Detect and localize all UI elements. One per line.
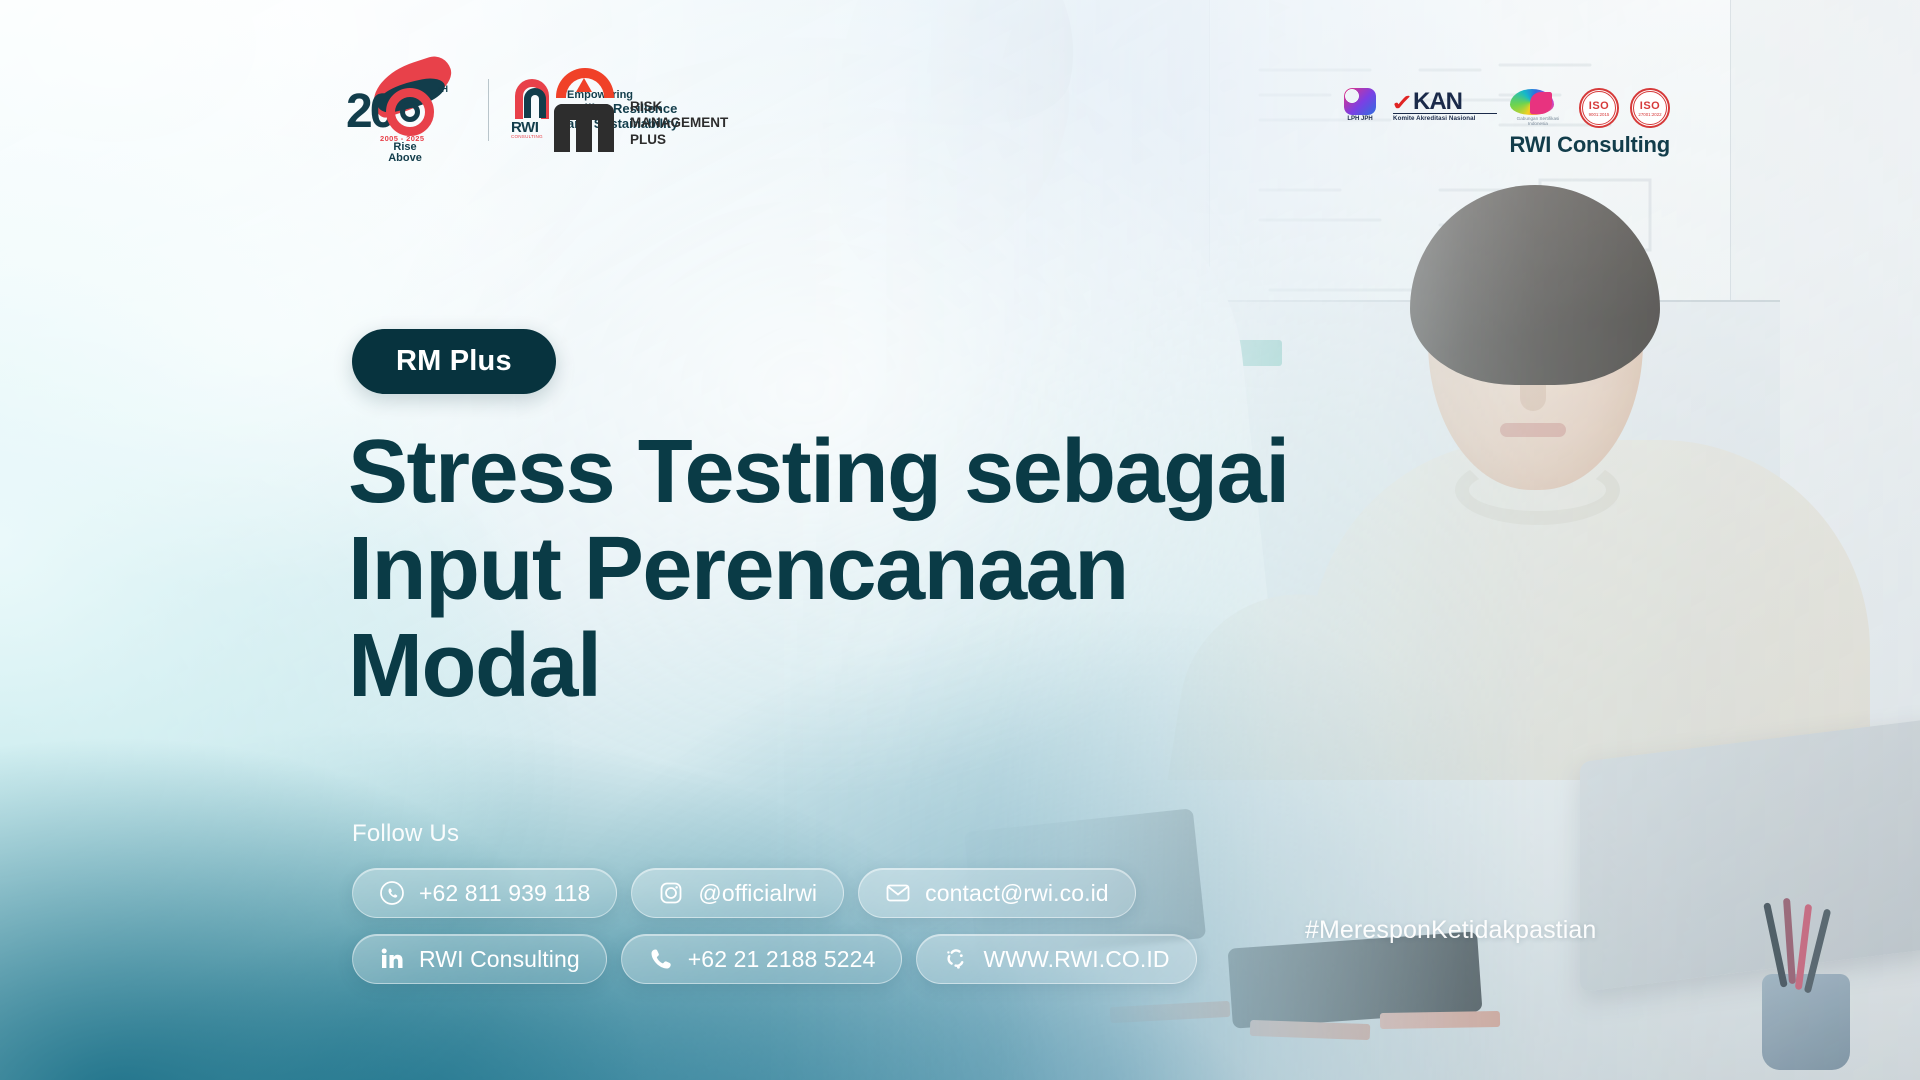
email-contact-pill[interactable]: contact@rwi.co.id bbox=[858, 868, 1136, 918]
campaign-hashtag: #MeresponKetidakpastian bbox=[1305, 916, 1596, 945]
rwi-logo-mark: RWI CONSULTING bbox=[511, 79, 555, 141]
rmp-text-line2: MANAGEMENT bbox=[630, 115, 728, 131]
lph-jph-label: LPH JPH bbox=[1338, 116, 1382, 122]
anniversary-tagline-line1: Rise bbox=[393, 141, 416, 153]
lph-jph-icon: LPH JPH bbox=[1338, 88, 1382, 128]
instagram-contact-pill[interactable]: @officialrwi bbox=[631, 868, 844, 918]
phone-number: +62 21 2188 5224 bbox=[688, 946, 876, 973]
anniversary-20th-logo: 20 TH 2005 - 2025 Rise Above bbox=[340, 62, 466, 158]
iso-27001-badge: ISO 27001:2022 bbox=[1630, 88, 1670, 128]
contact-row-2: RWI Consulting +62 21 2188 5224 bbox=[352, 934, 1197, 984]
phone-icon bbox=[648, 946, 674, 972]
website-url: WWW.RWI.CO.ID bbox=[983, 946, 1169, 973]
rmp-logo-text: RISK MANAGEMENT PLUS bbox=[630, 99, 728, 152]
rmp-logo-mark bbox=[552, 68, 618, 152]
iso-9001-badge: ISO 9001:2015 bbox=[1579, 88, 1619, 128]
rwi-wordmark-sub: CONSULTING bbox=[511, 134, 543, 139]
headline-line-2: Input Perencanaan bbox=[348, 521, 1528, 618]
poster-header: 20 TH 2005 - 2025 Rise Above RWI CONSULT… bbox=[0, 0, 1920, 185]
whatsapp-icon bbox=[379, 880, 405, 906]
instagram-handle: @officialrwi bbox=[698, 880, 817, 907]
anniversary-ordinal: TH bbox=[436, 84, 448, 94]
instagram-icon bbox=[658, 880, 684, 906]
rmp-text-line1: RISK bbox=[630, 99, 728, 115]
rwi-hook-navy bbox=[524, 88, 546, 118]
iso-27001-sublabel: 27001:2022 bbox=[1638, 112, 1661, 117]
category-badge: RM Plus bbox=[352, 329, 556, 394]
linkedin-icon bbox=[379, 946, 405, 972]
website-contact-pill[interactable]: WWW.RWI.CO.ID bbox=[916, 934, 1196, 984]
gsi-label: Gabungan Sertifikasi Indonesia bbox=[1508, 116, 1568, 126]
rmp-text-line3: PLUS bbox=[630, 132, 728, 148]
contact-pill-rows: +62 811 939 118 @officialrwi bbox=[352, 868, 1197, 1000]
logo-divider bbox=[488, 79, 489, 141]
headline-line-1: Stress Testing sebagai bbox=[348, 424, 1528, 521]
kan-accreditation-icon: ✓ KAN Komite Akreditasi Nasional bbox=[1393, 88, 1497, 128]
rmp-arrow-icon bbox=[576, 78, 592, 92]
phone-contact-pill[interactable]: +62 21 2188 5224 bbox=[621, 934, 903, 984]
anniversary-zero-inner bbox=[400, 102, 420, 122]
linkedin-name: RWI Consulting bbox=[419, 946, 580, 973]
headline-line-3: Modal bbox=[348, 618, 1528, 715]
website-icon bbox=[943, 946, 969, 972]
kan-label: KAN bbox=[1413, 88, 1462, 116]
iso-9001-label: ISO bbox=[1589, 100, 1609, 112]
risk-management-plus-logo: RISK MANAGEMENT PLUS bbox=[552, 68, 728, 152]
whatsapp-contact-pill[interactable]: +62 811 939 118 bbox=[352, 868, 617, 918]
iso-9001-sublabel: 9001:2015 bbox=[1589, 112, 1610, 117]
whatsapp-number: +62 811 939 118 bbox=[419, 880, 590, 907]
email-address: contact@rwi.co.id bbox=[925, 880, 1109, 907]
iso-27001-label: ISO bbox=[1640, 100, 1660, 112]
anniversary-tagline-line2: Above bbox=[388, 152, 422, 164]
linkedin-contact-pill[interactable]: RWI Consulting bbox=[352, 934, 607, 984]
gsi-icon: Gabungan Sertifikasi Indonesia bbox=[1508, 88, 1568, 128]
kan-sublabel: Komite Akreditasi Nasional bbox=[1393, 115, 1476, 122]
certification-badges: LPH JPH ✓ KAN Komite Akreditasi Nasional… bbox=[1338, 88, 1670, 128]
email-icon bbox=[885, 880, 911, 906]
poster-canvas: 20 TH 2005 - 2025 Rise Above RWI CONSULT… bbox=[0, 0, 1920, 1080]
anniversary-tagline: Rise Above bbox=[374, 142, 436, 164]
follow-us-label: Follow Us bbox=[352, 820, 459, 848]
page-title: Stress Testing sebagai Input Perencanaan… bbox=[348, 424, 1528, 716]
company-name: RWI Consulting bbox=[1509, 132, 1670, 158]
contact-row-1: +62 811 939 118 @officialrwi bbox=[352, 868, 1197, 918]
